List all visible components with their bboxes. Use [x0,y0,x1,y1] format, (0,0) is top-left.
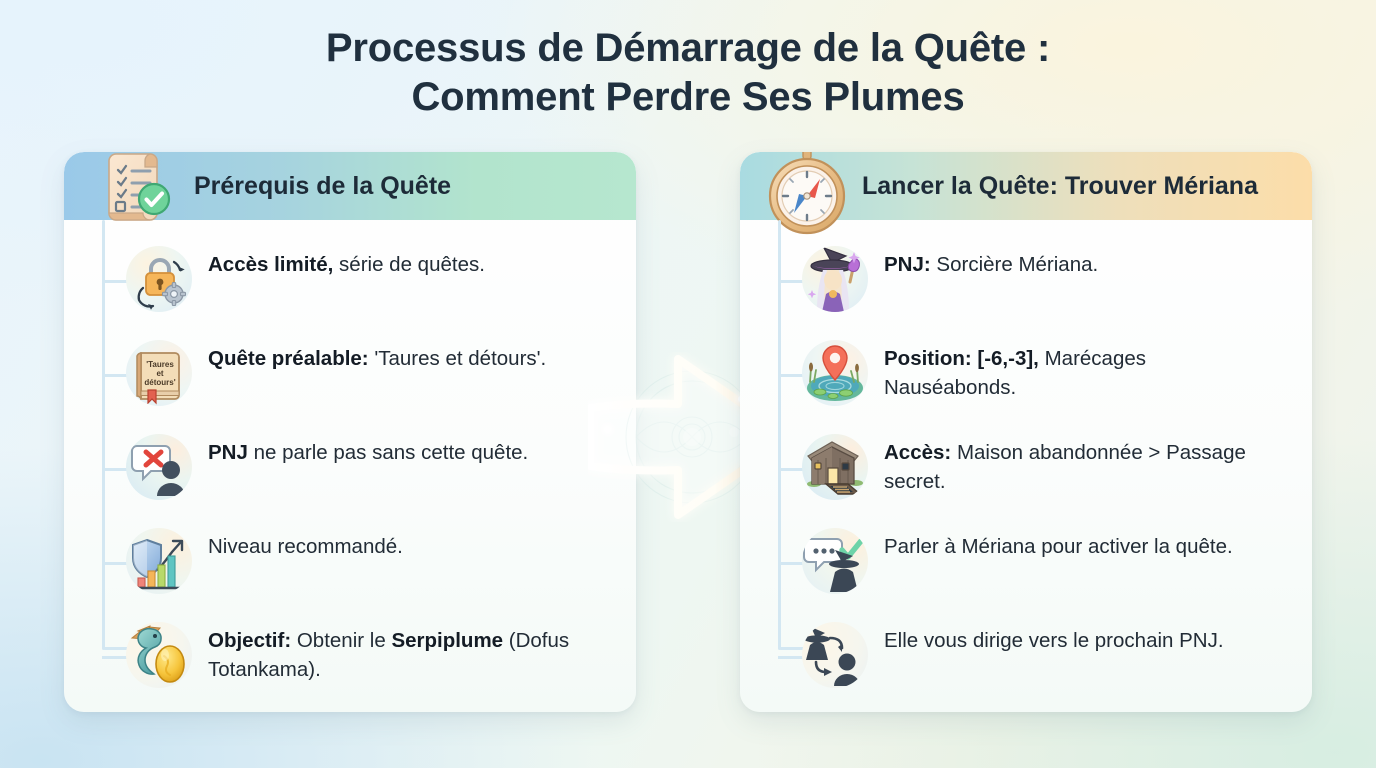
list-item-bold: PNJ: [884,253,931,276]
tree-branch-line [778,562,804,565]
list-item-text: PNJ ne parle pas sans cette quête. [208,438,528,467]
padlock-gear-cycle-icon [126,246,192,312]
list-item-rest: Parler à Mériana pour activer la quête. [884,535,1233,558]
tree-branch-line [102,468,128,471]
page-title-line-1: Processus de Démarrage de la Quête : [326,26,1050,70]
npc-no-dialogue-icon [126,434,192,500]
list-item-rest: ne parle pas sans cette quête. [248,441,528,464]
prerequisites-item-list: Accès limité, série de quêtes. 'Taures e… [64,220,636,708]
list-item: PNJ: Sorcière Mériana. [740,238,1312,324]
list-item-rest: Obtenir le [291,629,391,652]
list-item: Objectif: Obtenir le Serpiplume (Dofus T… [64,614,636,700]
list-item: PNJ ne parle pas sans cette quête. [64,426,636,512]
list-item-bold: Quête préalable: [208,347,369,370]
list-item-bold: Accès limité, [208,253,333,276]
panel-prerequisites: Prérequis de la Quête [64,152,636,712]
book-label-line-3: détours' [144,378,175,387]
tree-branch-line [102,374,128,377]
book-label-line-1: 'Taures [146,360,174,369]
list-item: Accès limité, série de quêtes. [64,238,636,324]
sparkle-icon [604,426,611,433]
list-item-text: PNJ: Sorcière Mériana. [884,250,1098,279]
list-item-text: Elle vous dirige vers le prochain PNJ. [884,626,1224,655]
list-item: Niveau recommandé. [64,520,636,606]
list-item-text: Position: [-6,-3], Marécages Nauséabonds… [884,344,1256,402]
shield-level-chart-icon [126,528,192,594]
tree-branch-line [778,656,804,659]
list-item-rest: Sorcière Mériana. [931,253,1098,276]
infographic-canvas: Processus de Démarrage de la Quête : Com… [0,0,1376,768]
quest-book-icon: 'Taures et détours' [126,340,192,406]
panel-prerequisites-title: Prérequis de la Quête [194,172,451,201]
list-item-text: Quête préalable: 'Taures et détours'. [208,344,546,373]
list-item-text: Accès limité, série de quêtes. [208,250,485,279]
list-item: Accès: Maison abandonnée > Passage secre… [740,426,1312,512]
list-item-bold: PNJ [208,441,248,464]
tree-branch-line [778,374,804,377]
list-item-bold: Position: [-6,-3], [884,347,1039,370]
list-item-bold: Accès: [884,441,951,464]
swamp-map-pin-icon [802,340,868,406]
witch-icon [802,246,868,312]
page-title: Processus de Démarrage de la Quête : Com… [0,24,1376,122]
dialogue-check-witch-icon [802,528,868,594]
abandoned-house-trapdoor-icon [802,434,868,500]
scroll-checklist-icon [94,152,180,230]
list-item-rest: Niveau recommandé. [208,535,403,558]
list-item-text: Niveau recommandé. [208,532,403,561]
book-label-line-2: et [156,369,163,378]
dragon-golden-egg-icon [126,622,192,688]
witch-redirect-npc-icon [802,622,868,688]
tree-branch-line [102,562,128,565]
tree-branch-line [102,280,128,283]
list-item-bold-2: Serpiplume [391,629,503,652]
list-item: Parler à Mériana pour activer la quête. [740,520,1312,606]
start-quest-item-list: PNJ: Sorcière Mériana. [740,220,1312,708]
panel-start-quest: Lancer la Quête: Trouver Mériana [740,152,1312,712]
list-item-rest: Elle vous dirige vers le prochain PNJ. [884,629,1224,652]
list-item-rest: 'Taures et détours'. [369,347,547,370]
page-title-line-2: Comment Perdre Ses Plumes [0,73,1376,122]
list-item: Position: [-6,-3], Marécages Nauséabonds… [740,332,1312,418]
tree-branch-line [778,468,804,471]
tree-branch-line [778,280,804,283]
list-item-bold: Objectif: [208,629,291,652]
panel-start-quest-title: Lancer la Quête: Trouver Mériana [862,172,1258,201]
list-item: Elle vous dirige vers le prochain PNJ. [740,614,1312,700]
list-item-text: Parler à Mériana pour activer la quête. [884,532,1233,561]
list-item-text: Accès: Maison abandonnée > Passage secre… [884,438,1256,496]
list-item-rest: série de quêtes. [333,253,485,276]
tree-branch-line [102,656,128,659]
list-item: 'Taures et détours' Quête préalable: 'Ta… [64,332,636,418]
list-item-text: Objectif: Obtenir le Serpiplume (Dofus T… [208,626,580,684]
